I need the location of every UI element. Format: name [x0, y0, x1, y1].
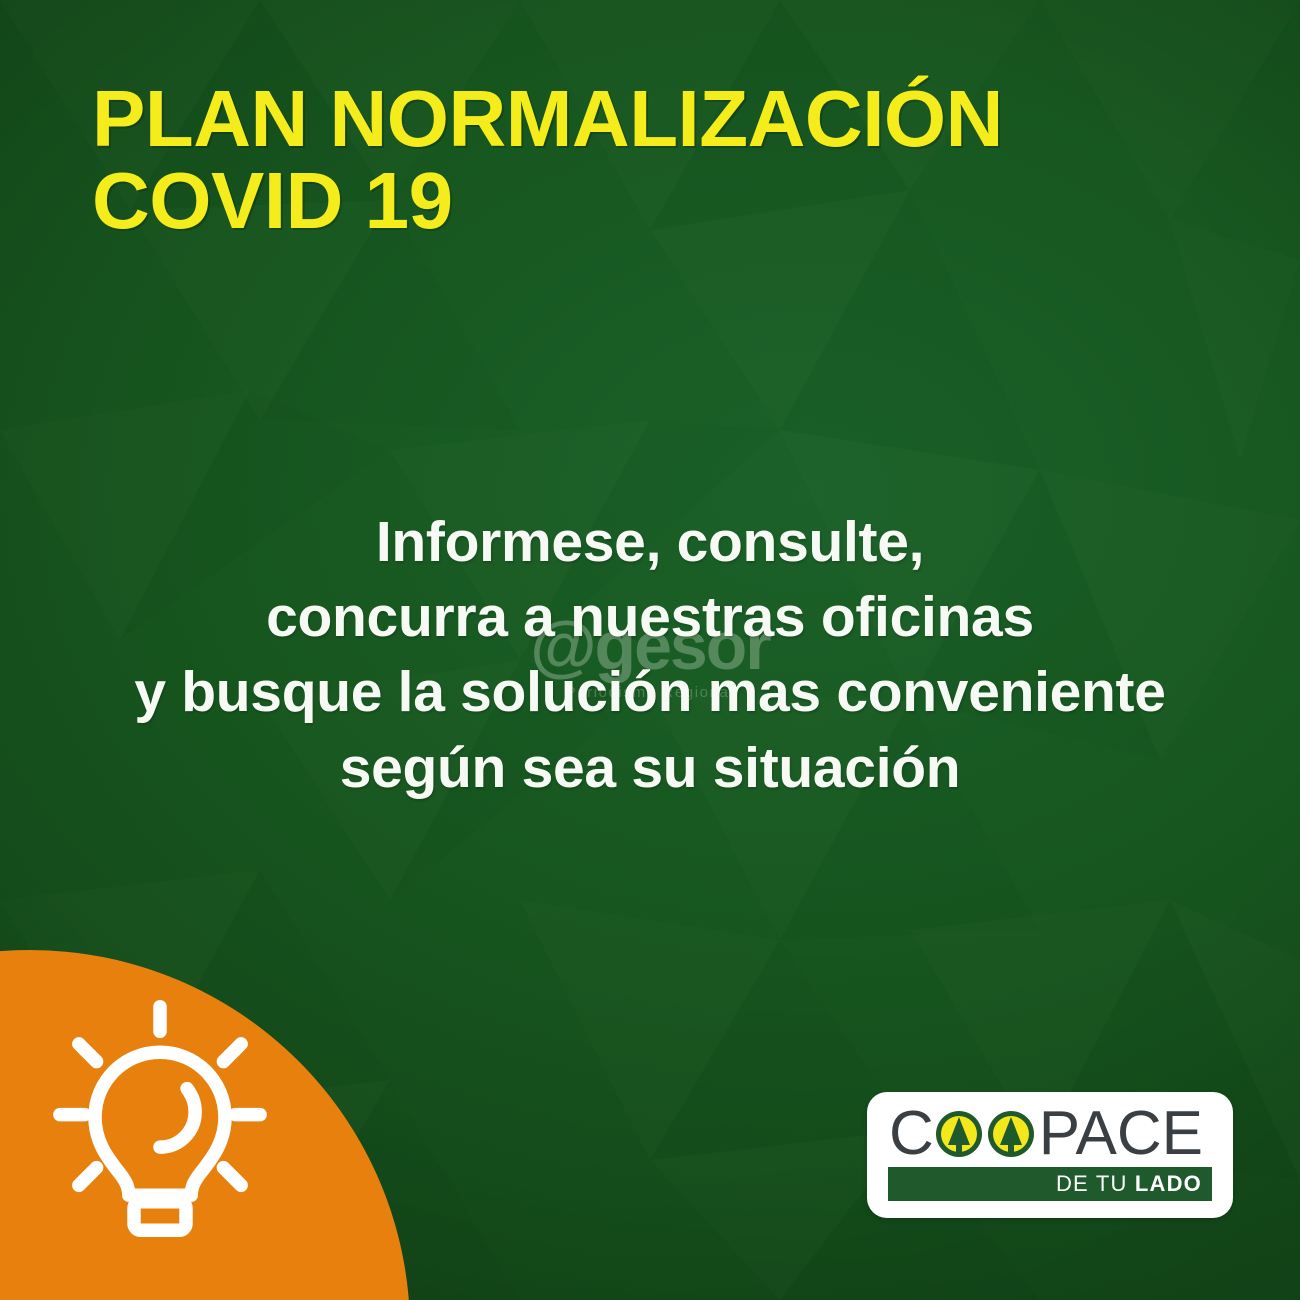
pine-tree-emblem-icon	[986, 1109, 1036, 1159]
coopace-tagline: DE TU LADO	[1056, 1173, 1202, 1195]
poster-canvas: PLAN NORMALIZACIÓN COVID 19 @gesor Perio…	[0, 0, 1300, 1300]
coopace-logo-card: C PACE DE TU LADO	[867, 1092, 1233, 1218]
coopace-wordmark: C PACE	[889, 1106, 1203, 1162]
lightbulb-icon	[30, 995, 290, 1255]
logo-letters-pace: PACE	[1039, 1103, 1203, 1165]
tagline-regular-part: DE TU	[1056, 1171, 1135, 1196]
logo-letter-c: C	[889, 1103, 933, 1165]
tagline-bold-part: LADO	[1135, 1171, 1202, 1196]
poster-body-text: Informese, consulte, concurra a nuestras…	[50, 505, 1250, 806]
coopace-tagline-bar: DE TU LADO	[888, 1167, 1212, 1201]
poster-headline: PLAN NORMALIZACIÓN COVID 19	[92, 78, 1152, 243]
pine-tree-emblem-icon	[934, 1109, 984, 1159]
